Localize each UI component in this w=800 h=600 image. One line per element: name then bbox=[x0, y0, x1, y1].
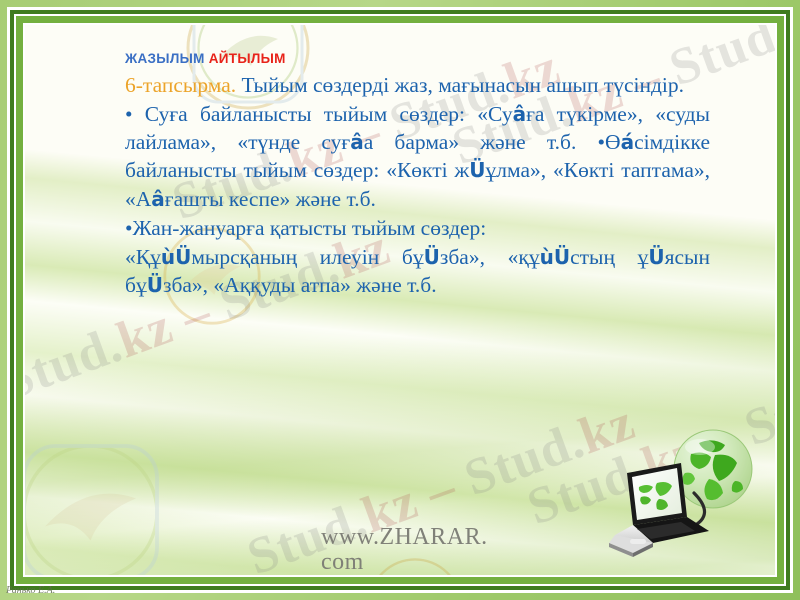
text-run: ғашты кеспе» және т.б. bbox=[165, 187, 376, 211]
special-glyph: á bbox=[621, 130, 635, 154]
special-glyph: Ü bbox=[424, 245, 440, 269]
bullet-paragraph-animals-examples: «ҚұùÜмырсқаның илеуін бұÜзба», «құùÜстың… bbox=[125, 243, 710, 299]
text-run: зба», «Аққуды атпа» және т.б. bbox=[163, 273, 437, 297]
text-run: Жан-жануарға қатысты тыйым сөздер: bbox=[133, 216, 487, 240]
bullet-text: «ҚұùÜмырсқаның илеуін бұÜзба», «құùÜстың… bbox=[125, 245, 710, 297]
text-run: мырсқаның илеуін бұ bbox=[191, 245, 423, 269]
special-glyph: â bbox=[513, 102, 527, 126]
bullet-paragraph-animals: •Жан-жануарға қатысты тыйым сөздер: bbox=[125, 214, 710, 242]
text-run: стың ұ bbox=[570, 245, 648, 269]
bullet-paragraph-water-plants: • Суға байланысты тыйым сөздер: «Суâға т… bbox=[125, 100, 710, 213]
task-instruction: Тыйым сөздерді жаз, мағынасын ашып түсін… bbox=[236, 73, 684, 97]
bullet-marker: • bbox=[125, 216, 133, 240]
text-run: «Құ bbox=[125, 245, 161, 269]
globe-and-laptop-graphic bbox=[589, 421, 771, 569]
text-run: Суға байланысты тыйым сөздер: «Су bbox=[133, 102, 513, 126]
text-run: •Ө bbox=[598, 130, 621, 154]
label-speaking: АЙТЫЛЫМ bbox=[209, 51, 286, 66]
text-run: зба», «құ bbox=[440, 245, 540, 269]
special-glyph: â bbox=[151, 187, 165, 211]
author-credit: Ранько Е.А. bbox=[6, 585, 55, 596]
bullet-text: Суға байланысты тыйым сөздер: «Суâға түк… bbox=[125, 102, 710, 210]
slide-content-area: Stud.kz – Stud.kz Stud.kz – Stud.kz Stud… bbox=[25, 25, 775, 575]
task-instruction-paragraph: 6-тапсырма. Тыйым сөздерді жаз, мағынасы… bbox=[125, 71, 710, 99]
green-globe-icon bbox=[674, 430, 752, 508]
lesson-text-block: ЖАЗЫЛЫМ АЙТЫЛЫМ 6-тапсырма. Тыйым сөздер… bbox=[125, 51, 710, 300]
special-glyph: Ü bbox=[648, 245, 664, 269]
text-run: а барма» және т.б. bbox=[364, 130, 598, 154]
bullet-marker: • bbox=[125, 102, 133, 126]
label-writing: ЖАЗЫЛЫМ bbox=[125, 51, 205, 66]
special-glyph: ùÜ bbox=[161, 245, 191, 269]
special-glyph: â bbox=[350, 130, 364, 154]
task-number: 6-тапсырма. bbox=[125, 73, 236, 97]
special-glyph: Ü bbox=[147, 273, 163, 297]
special-glyph: ùÜ bbox=[540, 245, 570, 269]
section-labels: ЖАЗЫЛЫМ АЙТЫЛЫМ bbox=[125, 51, 710, 66]
bullet-text: Жан-жануарға қатысты тыйым сөздер: bbox=[133, 216, 487, 240]
special-glyph: Ü bbox=[469, 158, 485, 182]
slide-canvas: Stud.kz – Stud.kz Stud.kz – Stud.kz Stud… bbox=[0, 0, 800, 600]
